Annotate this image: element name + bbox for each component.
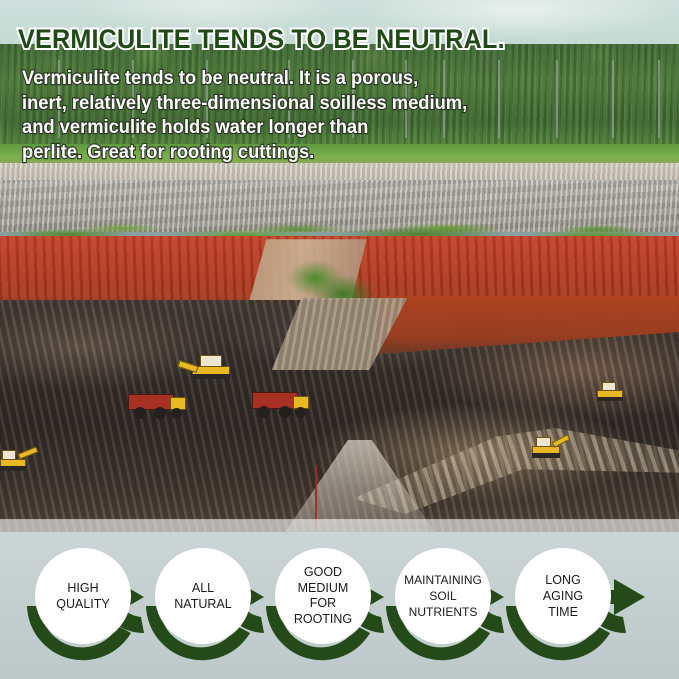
flow-node-label: HIGH QUALITY [56, 580, 110, 612]
yellow-excavator [528, 437, 574, 461]
flow-node-maintaining-soil-nutrients[interactable]: MAINTAINING SOIL NUTRIENTS [395, 548, 491, 644]
red-dump-truck [252, 392, 314, 420]
poster-canvas: VERMICULITE TENDS TO BE NEUTRAL. Vermicu… [0, 0, 679, 679]
red-marker-pole [315, 465, 317, 527]
body-line: and vermiculite holds water longer than [22, 115, 511, 140]
yellow-excavator [178, 355, 240, 381]
flow-node-label: LONG AGING TIME [543, 572, 583, 620]
flow-node-all-natural[interactable]: ALL NATURAL [155, 548, 251, 644]
red-dump-truck [128, 394, 190, 422]
flow-node-good-medium-for-rooting[interactable]: GOOD MEDIUM FOR ROOTING [275, 548, 371, 644]
flow-node-high-quality[interactable]: HIGH QUALITY [35, 548, 131, 644]
page-title: VERMICULITE TENDS TO BE NEUTRAL. [18, 24, 626, 54]
body-line: Vermiculite tends to be neutral. It is a… [22, 66, 511, 91]
benefits-flow-diagram: HIGH QUALITY ALL NATURAL GOOD MEDIUM FOR… [0, 525, 679, 675]
body-line: perlite. Great for rooting cuttings. [22, 140, 511, 165]
flow-node-label: ALL NATURAL [174, 580, 231, 612]
yellow-excavator [592, 382, 634, 404]
body-line: inert, relatively three-dimensional soil… [22, 91, 511, 116]
flow-node-long-aging-time[interactable]: LONG AGING TIME [515, 548, 611, 644]
yellow-excavator [0, 448, 44, 472]
grey-rubble-bench [0, 180, 679, 232]
flow-node-label: MAINTAINING SOIL NUTRIENTS [404, 572, 482, 620]
body-copy: Vermiculite tends to be neutral. It is a… [22, 66, 511, 164]
flow-node-label: GOOD MEDIUM FOR ROOTING [294, 565, 352, 627]
